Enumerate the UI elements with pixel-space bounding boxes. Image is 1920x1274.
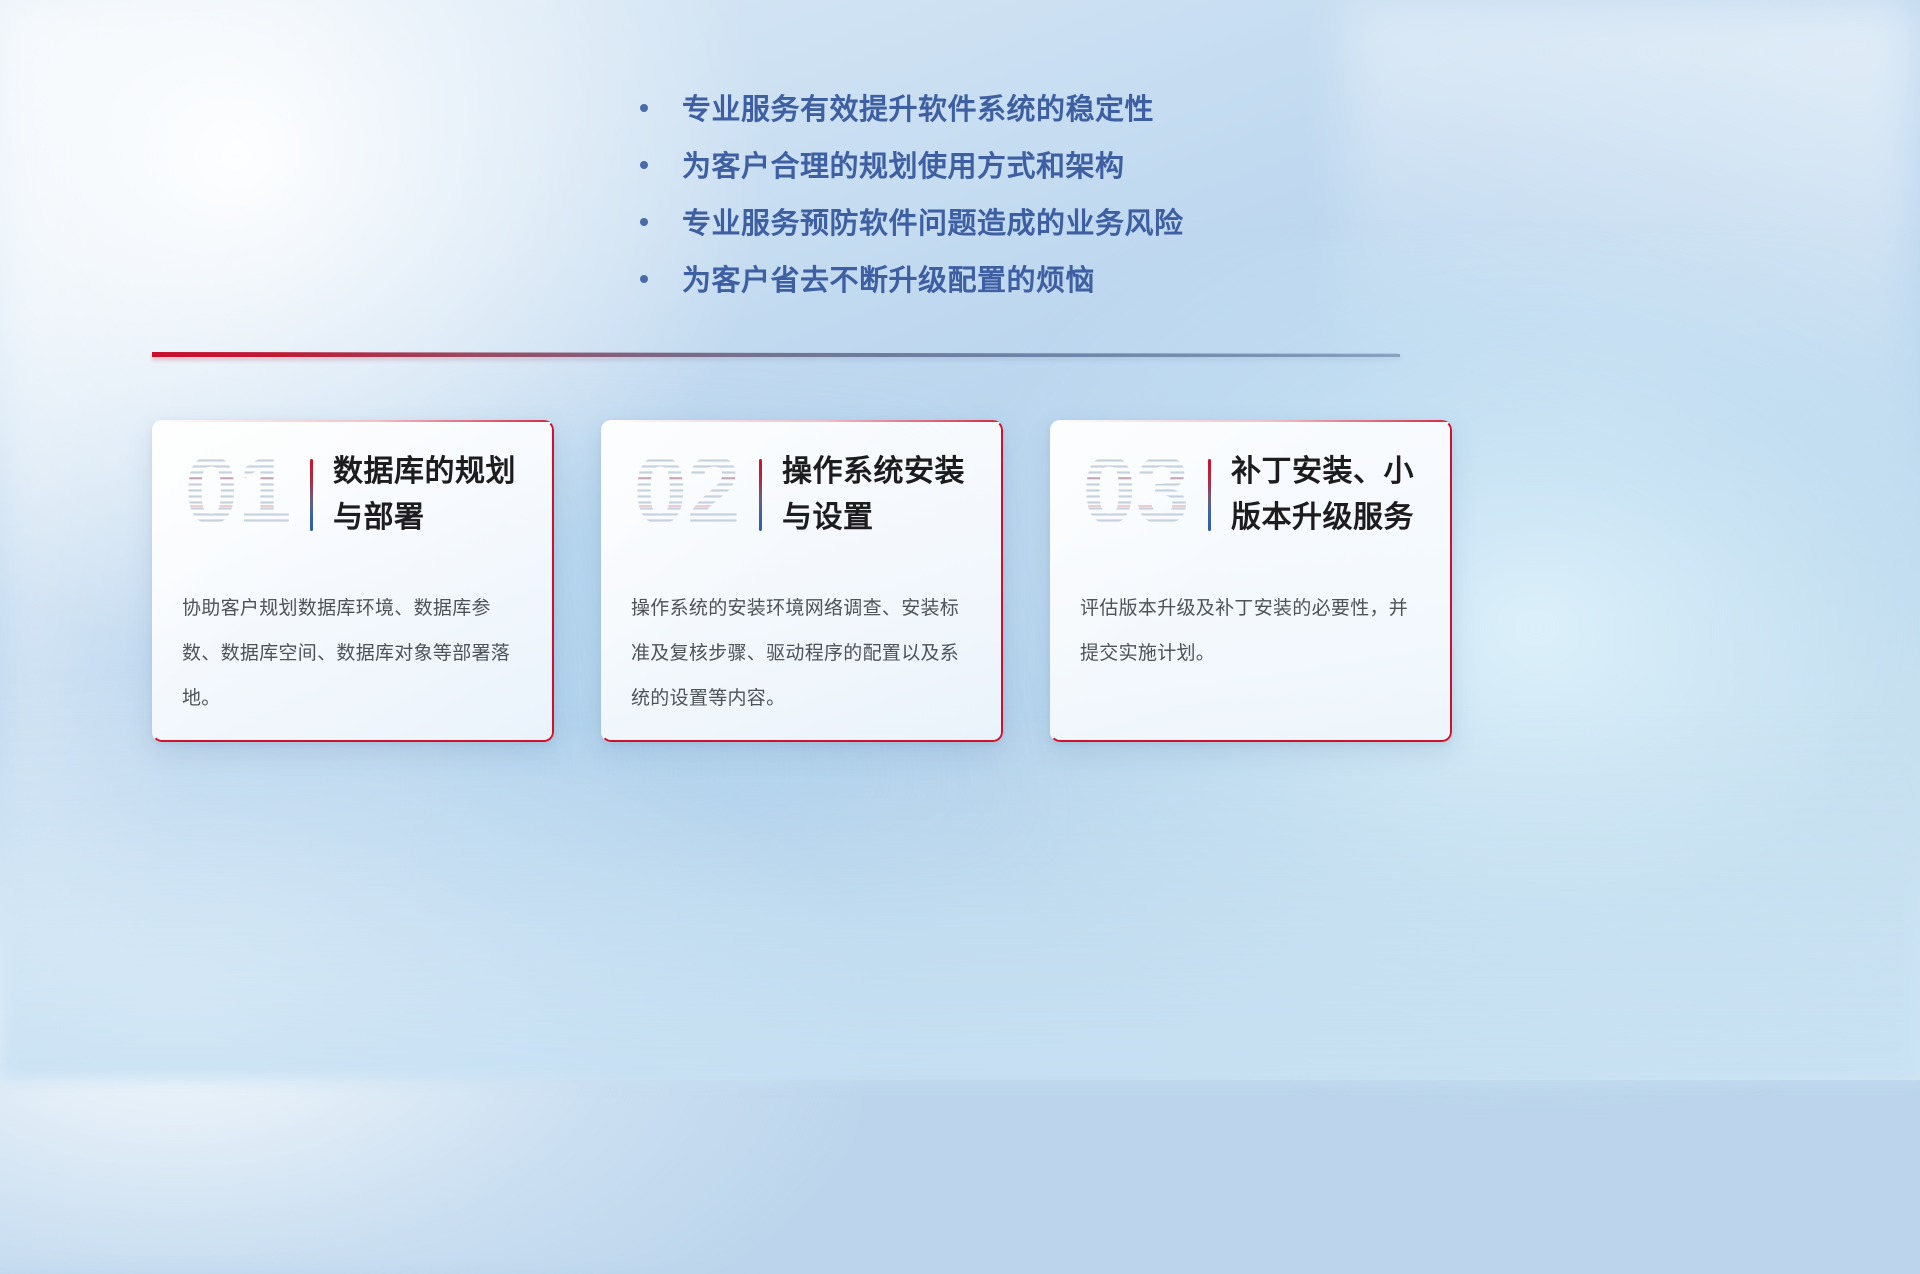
bullet-dot-icon [640, 104, 648, 112]
list-item: 专业服务有效提升软件系统的稳定性 [640, 86, 1280, 143]
bullet-dot-icon [640, 161, 648, 169]
card-title-divider [759, 459, 762, 531]
card-title: 补丁安装、小 版本升级服务 [1231, 449, 1414, 541]
service-card[interactable]: 02 操作系统安装 与设置 操作系统的安装环境网络调查、安装标准及复核步骤、驱动… [601, 420, 1003, 742]
ghost-number-icon: 02 [623, 447, 751, 543]
list-item: 为客户合理的规划使用方式和架构 [640, 143, 1280, 200]
bullet-text: 专业服务有效提升软件系统的稳定性 [682, 86, 1154, 128]
card-body-text: 评估版本升级及补丁安装的必要性，并提交实施计划。 [1080, 586, 1422, 676]
card-title: 操作系统安装 与设置 [782, 449, 965, 541]
card-title-divider [1208, 459, 1211, 531]
divider-line [152, 352, 1400, 357]
card-body-text: 协助客户规划数据库环境、数据库参数、数据库空间、数据库对象等部署落地。 [182, 586, 524, 721]
list-item: 为客户省去不断升级配置的烦恼 [640, 257, 1280, 314]
background-bottom-wash [0, 713, 1920, 1080]
card-header: 03 补丁安装、小 版本升级服务 [1050, 420, 1452, 570]
service-card-row: 01 数据库的规划 与部署 协助客户规划数据库环境、数据库参数、数据库空间、数据… [152, 420, 1452, 742]
benefits-bullet-list: 专业服务有效提升软件系统的稳定性 为客户合理的规划使用方式和架构 专业服务预防软… [0, 86, 1920, 314]
service-card[interactable]: 01 数据库的规划 与部署 协助客户规划数据库环境、数据库参数、数据库空间、数据… [152, 420, 554, 742]
bullet-text: 为客户合理的规划使用方式和架构 [682, 143, 1125, 185]
bullet-dot-icon [640, 218, 648, 226]
list-item: 专业服务预防软件问题造成的业务风险 [640, 200, 1280, 257]
ghost-number-icon: 03 [1072, 447, 1200, 543]
card-header: 01 数据库的规划 与部署 [152, 420, 554, 570]
bullet-text: 专业服务预防软件问题造成的业务风险 [682, 200, 1184, 242]
card-header: 02 操作系统安装 与设置 [601, 420, 1003, 570]
ghost-number-icon: 01 [174, 447, 302, 543]
service-card[interactable]: 03 补丁安装、小 版本升级服务 评估版本升级及补丁安装的必要性，并提交实施计划… [1050, 420, 1452, 742]
section-divider [152, 348, 1400, 362]
bullet-text: 为客户省去不断升级配置的烦恼 [682, 257, 1095, 299]
card-body-text: 操作系统的安装环境网络调查、安装标准及复核步骤、驱动程序的配置以及系统的设置等内… [631, 586, 973, 721]
card-title: 数据库的规划 与部署 [333, 449, 516, 541]
bullet-dot-icon [640, 275, 648, 283]
card-title-divider [310, 459, 313, 531]
